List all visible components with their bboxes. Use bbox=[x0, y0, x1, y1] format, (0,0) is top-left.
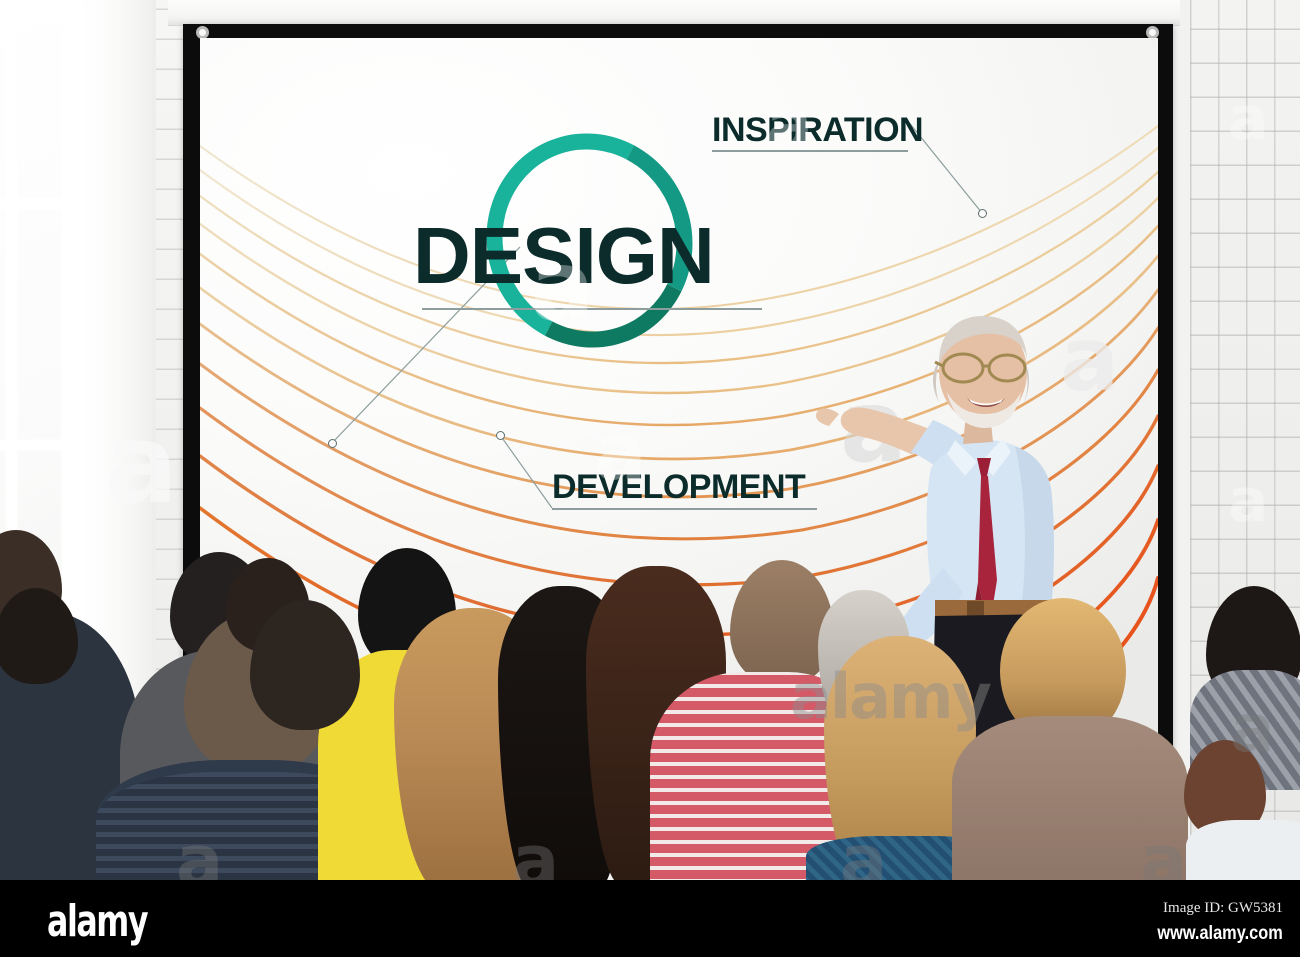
stock-photo-canvas: DESIGN INSPIRATION DEVELOPMENT a a a a a… bbox=[0, 0, 1300, 957]
audience-brown-sweater bbox=[952, 716, 1188, 880]
slide-label-inspiration: INSPIRATION bbox=[712, 113, 923, 147]
window-mullion-horizontal bbox=[0, 440, 71, 450]
callout-marker bbox=[978, 209, 987, 218]
ceiling-valance bbox=[168, 0, 1180, 26]
slide-label-development-underline bbox=[552, 508, 817, 510]
window-mullion-horizontal bbox=[0, 198, 71, 209]
window-mullion-vertical bbox=[62, 0, 71, 700]
slide-label-inspiration-underline bbox=[712, 150, 908, 152]
image-id-text: Image ID: GW5381 bbox=[1163, 900, 1283, 917]
audience-white-shirt bbox=[1186, 820, 1300, 880]
alamy-footer-bar: alamy Image ID: GW5381 www.alamy.com bbox=[0, 880, 1300, 957]
alamy-logo: alamy bbox=[47, 896, 147, 947]
slide-label-design: DESIGN bbox=[413, 216, 714, 296]
slide-label-development: DEVELOPMENT bbox=[552, 470, 805, 504]
alamy-url-text: www.alamy.com bbox=[1158, 923, 1283, 945]
callout-marker bbox=[328, 439, 337, 448]
photograph: DESIGN INSPIRATION DEVELOPMENT a a a a a… bbox=[0, 0, 1300, 880]
callout-marker bbox=[496, 431, 505, 440]
slide-label-design-underline bbox=[422, 308, 762, 310]
